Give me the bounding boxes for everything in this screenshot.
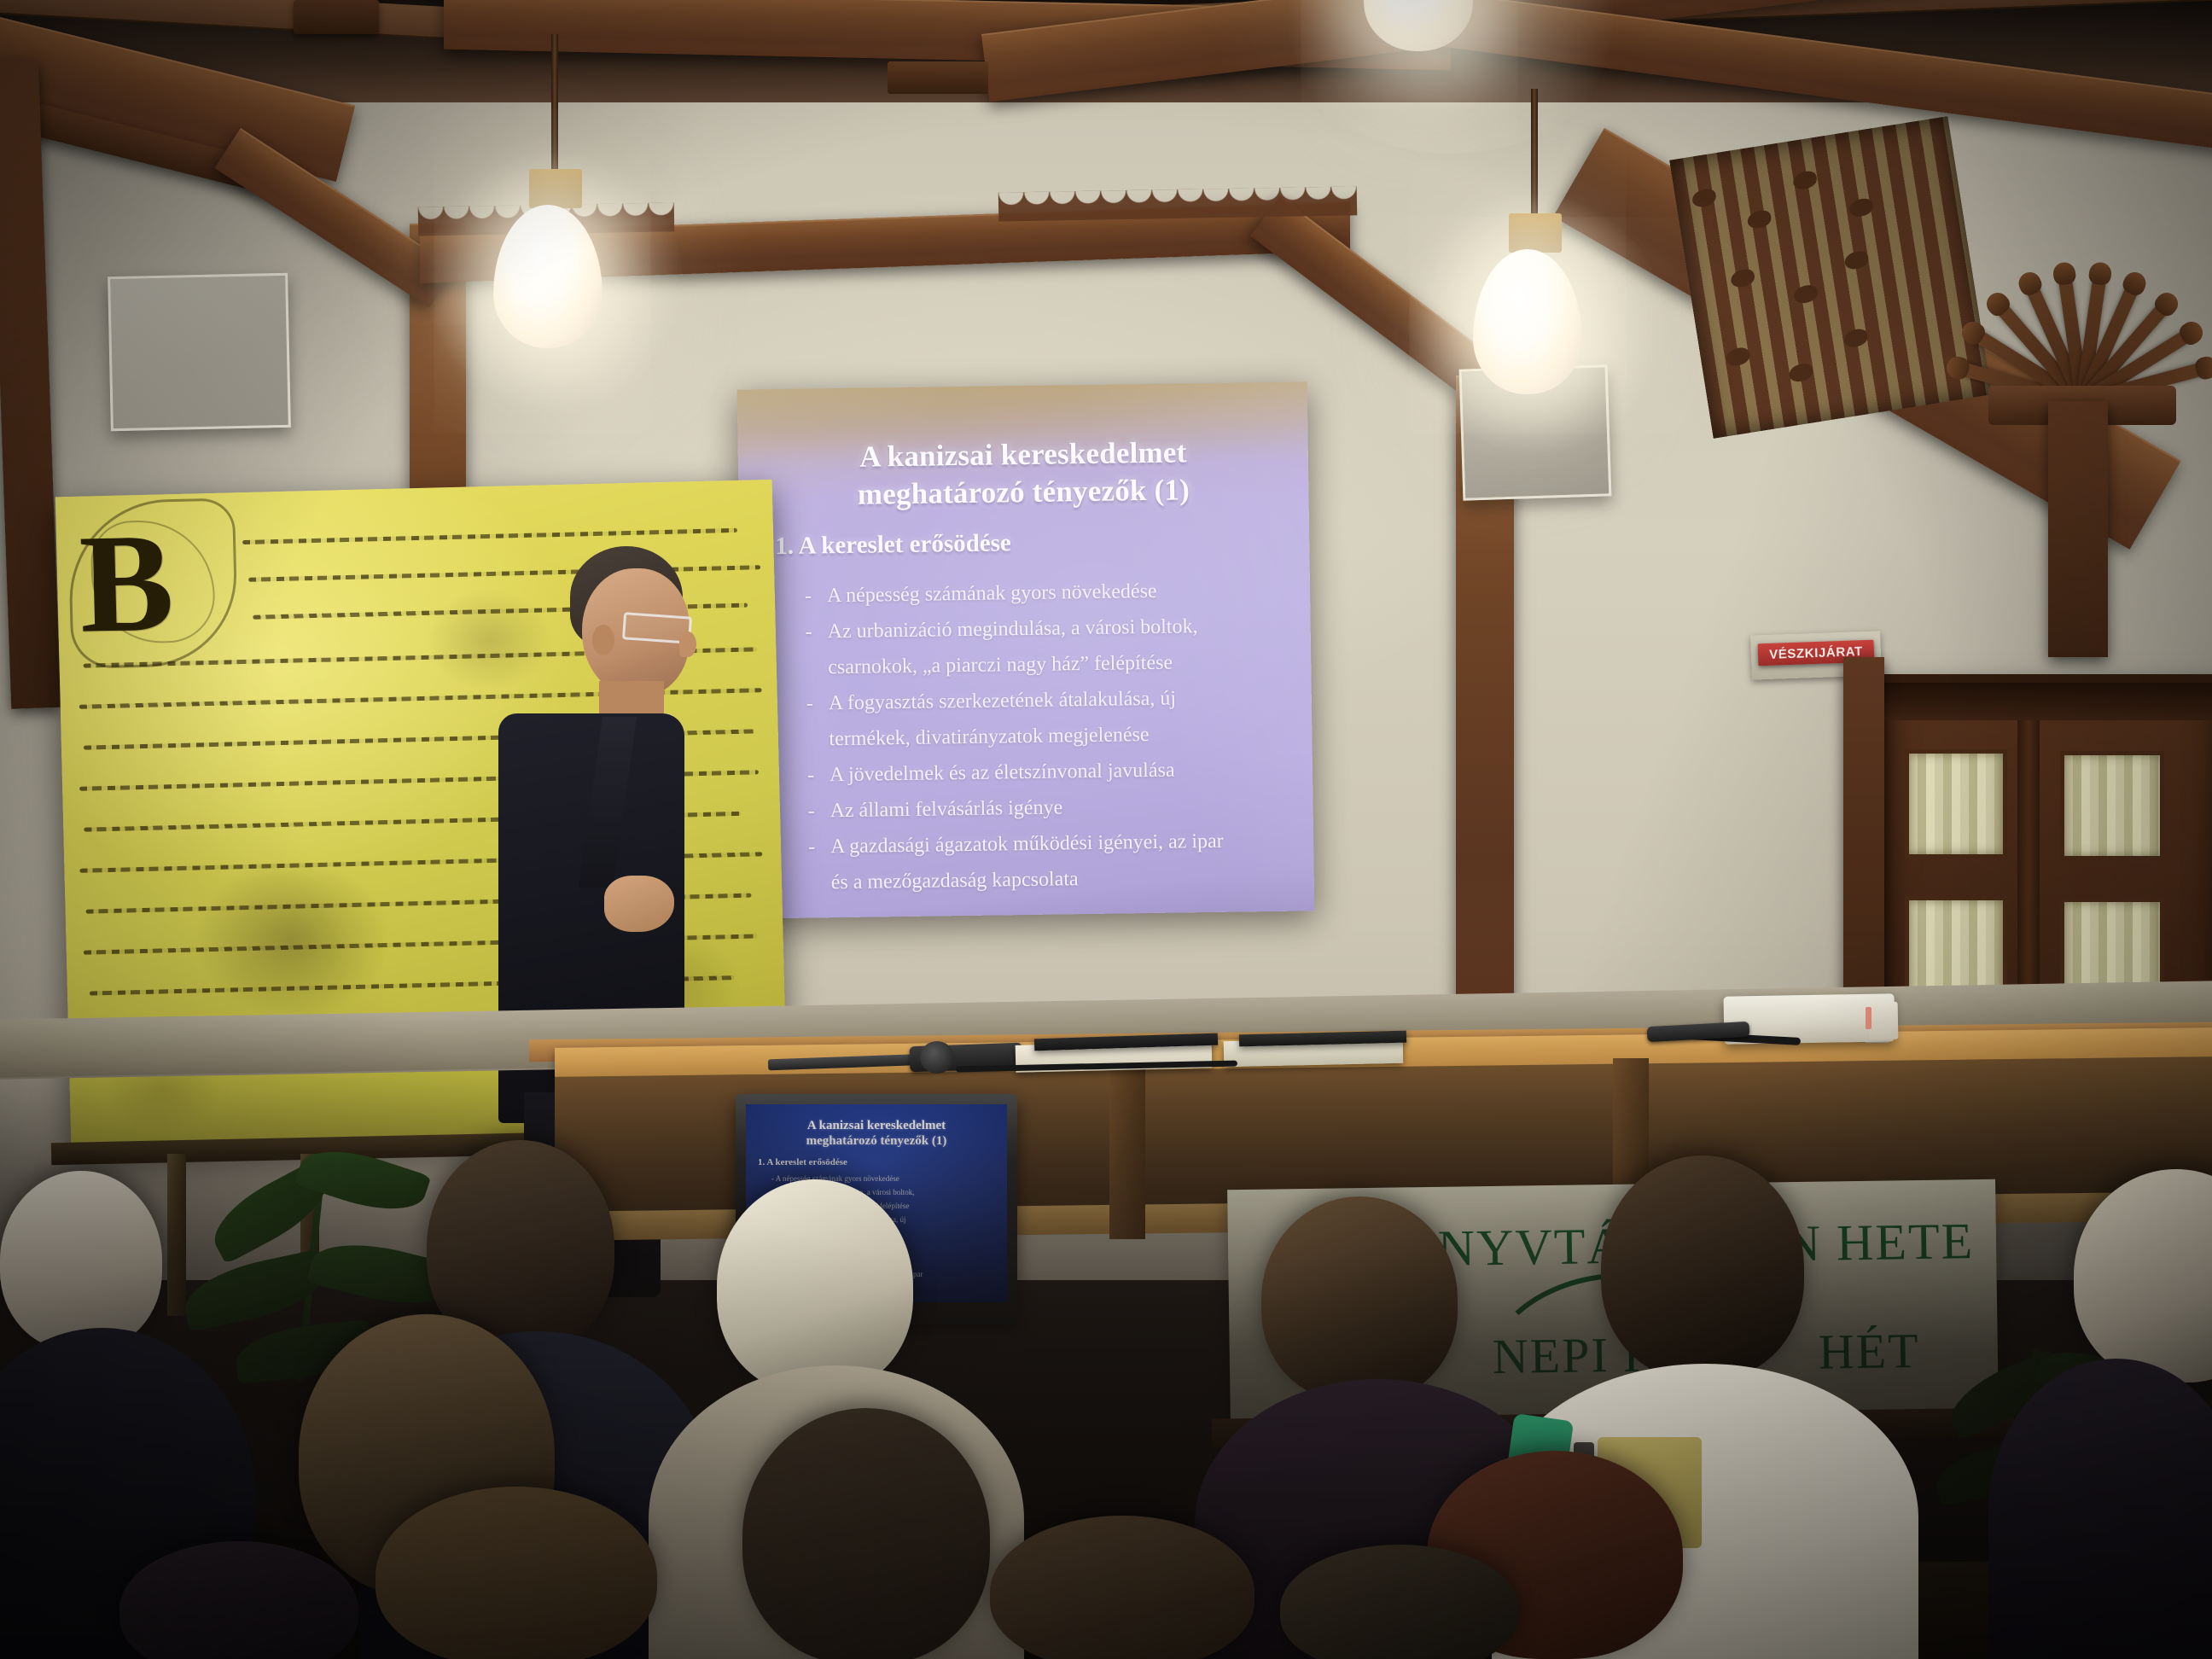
slide-bullet-text: Az urbanizáció megindulása, a városi bol… [827,615,1197,643]
bullet-dash: - [805,581,827,610]
slide-bullet-text: A népesség számának gyors növekedése [827,580,1157,607]
door-header [1883,683,2212,720]
monitor-heading: 1. A kereslet erősödése [758,1157,1005,1167]
lecture-hall-photo: VÉSZKIJÁRAT A kanizsai kereskedelmet meg… [0,0,2212,1659]
speaker-nose [679,632,696,657]
charter-stain [192,856,393,1023]
monitor-title-line2: meghatározó tényezők (1) [746,1133,1007,1149]
pendant-lamp-cap [1509,213,1562,253]
ornament-post [2048,401,2108,657]
slide-bullet: -A jövedelmek és az életszínvonal javulá… [807,754,1311,789]
slide-bullet: -Az állami felvásárlás igénye [807,789,1311,825]
slide-bullet: -Az urbanizáció megindulása, a városi bo… [805,610,1308,646]
audience-head [375,1487,657,1659]
slide-bullet: -A gazdasági ágazatok működési igényei, … [808,825,1320,861]
speaker-hands [604,876,674,932]
slide-bullet-cont: termékek, divatirányzatok megjelenése [829,718,1332,754]
slide-bullet-text: és a mezőgazdaság kapcsolata [831,868,1079,894]
slide-bullet: -A népesség számának gyors növekedése [805,574,1308,610]
audience-head [0,1171,162,1350]
bullet-dash: - [807,760,829,789]
lamp-mount-block-left [294,0,379,34]
slide-bullet: -A fogyasztás szerkezetének átalakulása,… [806,682,1310,718]
microphone-head [920,1041,954,1074]
projector-indicator-light [1866,1007,1871,1029]
monitor-title-line1: A kanizsai kereskedelmet [746,1118,1007,1133]
pendant-lamp-cord [551,34,558,178]
speaker-ear [592,625,614,655]
audience-head [1261,1196,1458,1401]
audience-head [717,1179,913,1393]
audience-head [1601,1155,1804,1379]
slide-bullet-text: csarnokok, „a piarczi nagy ház” felépíté… [828,652,1173,679]
slide-bullet-cont: csarnokok, „a piarczi nagy ház” felépíté… [828,646,1331,682]
banner-line2-right: HÉT [1818,1322,1920,1381]
slide-bullet-cont: és a mezőgazdaság kapcsolata [831,861,1335,897]
charter-text-line [242,528,737,544]
slide-heading: 1. A kereslet erősödése [775,526,1287,561]
slide-bullet-text: A fogyasztás szerkezetének átalakulása, … [829,688,1176,715]
slide-bullet-text: A jövedelmek és az életszínvonal javulás… [829,760,1175,787]
pendant-lamp-cap [529,169,582,208]
door-pane [1905,749,2007,859]
audience-head [990,1516,1254,1659]
bullet-dash: - [806,689,829,718]
carved-sunburst-ornament [1954,230,2210,401]
bullet-dash: - [807,796,829,825]
table-leg [1109,1068,1145,1239]
slide-bullet-text: A gazdasági ágazatok működési igényei, a… [830,830,1224,858]
door-pane [2060,751,2164,860]
slide-bullet-text: termékek, divatirányzatok megjelenése [829,724,1149,750]
audience-head [742,1408,990,1659]
lamp-mount-block-right [888,61,988,94]
acoustic-panel-left [108,273,291,431]
pendant-lamp-cord [1531,89,1538,222]
slide-title-line1: A kanizsai kereskedelmet [738,433,1309,477]
projection-screen: A kanizsai kereskedelmet meghatározó tén… [737,381,1315,918]
projector-lens [1869,1002,1899,1040]
slide-title-line2: meghatározó tényezők (1) [738,470,1309,515]
slide-bullet-text: Az állami felvásárlás igénye [829,796,1062,822]
lattice-leaf-cluster [1679,135,1981,429]
bullet-dash: - [805,617,827,646]
bullet-dash: - [808,832,830,861]
